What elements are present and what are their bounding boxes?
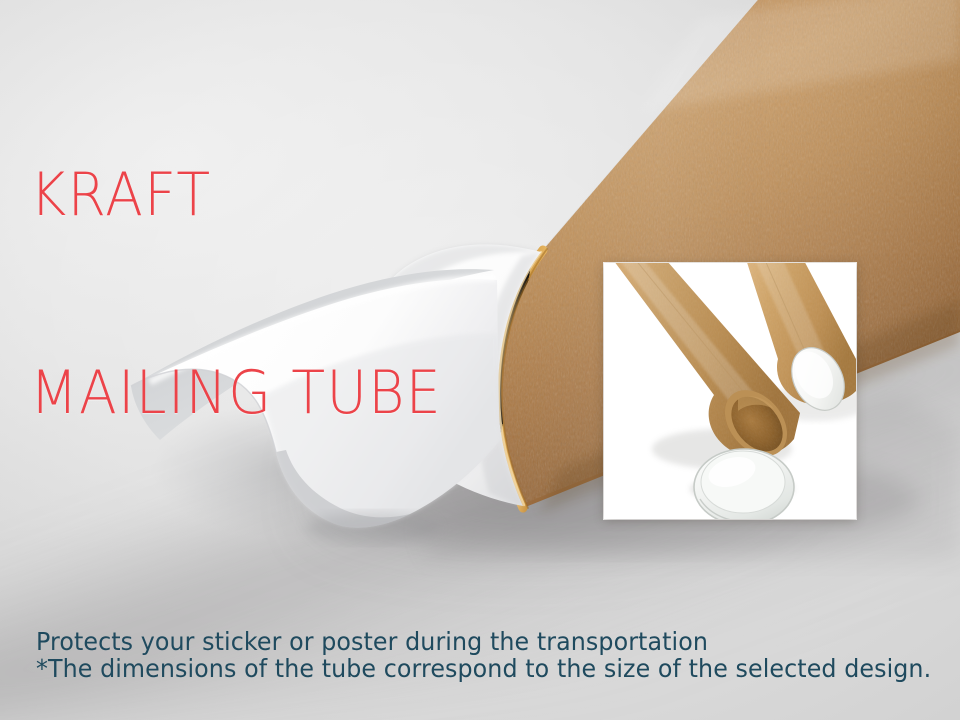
headline-line-1: KRAFT (30, 162, 442, 228)
product-photo-inset (604, 263, 856, 519)
page-title: KRAFT MAILING TUBE (30, 30, 442, 558)
inset-loose-cap (694, 449, 794, 519)
feature-description: Protects your sticker or poster during t… (36, 557, 771, 720)
headline-line-2: MAILING TUBE (30, 360, 442, 426)
footnote-text: *The dimensions of the tube correspond t… (36, 653, 931, 685)
poster-canvas: KRAFT MAILING TUBE Protects your sticker… (0, 0, 960, 720)
